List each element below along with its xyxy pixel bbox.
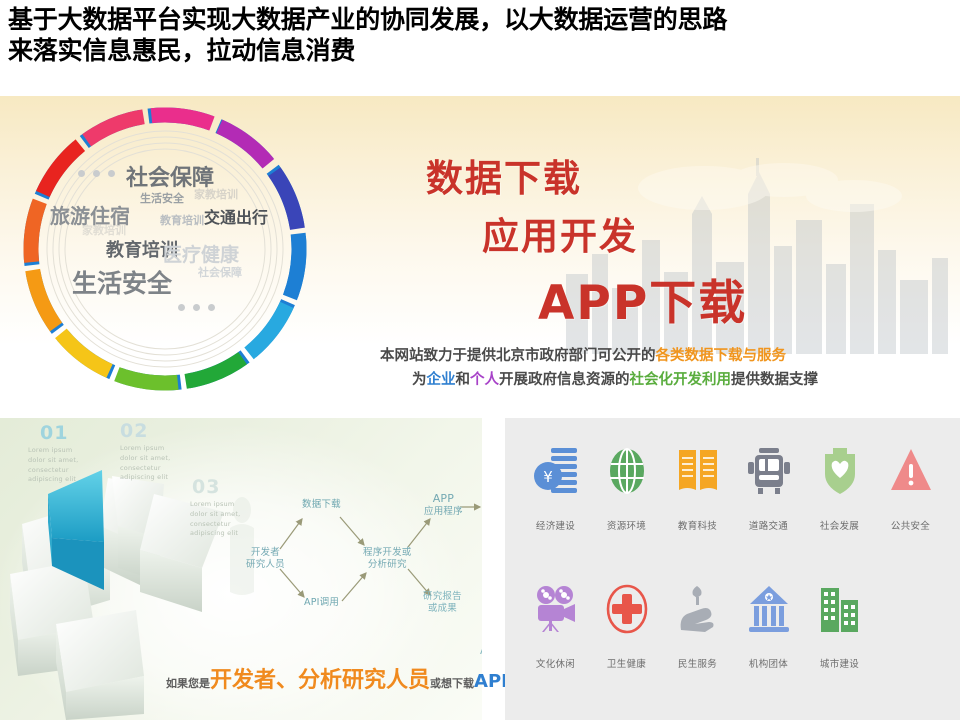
flow-node-data-download: 数据下载 bbox=[302, 499, 341, 511]
slide-page: 基于大数据平台实现大数据产业的协同发展，以大数据运营的思路 来落实信息惠民，拉动… bbox=[0, 0, 960, 720]
open-book-icon bbox=[675, 440, 721, 502]
annotation-text: Lorem ipsum dolor sit amet, consectetur … bbox=[190, 500, 244, 539]
film-camera-icon bbox=[533, 578, 579, 640]
category-item-health[interactable]: 卫生健康 bbox=[592, 570, 661, 706]
wordcloud-term: 医疗健康 bbox=[163, 240, 239, 267]
bottom-section: 01 Lorem ipsum dolor sit amet, consectet… bbox=[0, 418, 960, 720]
flow-node-app-program: APP应用程序 bbox=[424, 493, 463, 518]
banner-subline-2: 为企业和个人开展政府信息资源的社会化开发利用提供数据支撑 bbox=[412, 368, 818, 389]
flow-node-api-call: API调用 bbox=[304, 597, 339, 609]
category-label: 民生服务 bbox=[678, 656, 717, 670]
category-label: 公共安全 bbox=[891, 518, 930, 532]
category-item-culture[interactable]: 文化休闲 bbox=[521, 570, 590, 706]
category-item-transport[interactable]: 道路交通 bbox=[734, 432, 803, 568]
hand-care-icon bbox=[675, 578, 721, 640]
category-label: 机构团体 bbox=[749, 656, 788, 670]
category-label: 文化休闲 bbox=[536, 656, 575, 670]
city-buildings-icon bbox=[817, 578, 863, 640]
banner-headline-2: 应用开发 bbox=[482, 206, 638, 260]
banner-headline-3: APP下载 bbox=[538, 264, 747, 333]
shield-heart-icon bbox=[817, 440, 863, 502]
annotation-text: Lorem ipsum dolor sit amet, consectetur … bbox=[120, 444, 174, 483]
category-item-education[interactable]: 教育科技 bbox=[663, 432, 732, 568]
flow-node-research-report: 研究报告或成果 bbox=[423, 591, 462, 615]
tagline-prefix: 如果您是 bbox=[166, 677, 210, 690]
banner-right-graphic: 数据下载 应用开发 APP下载 本网站致力于提供北京市政府部门可公开的各类数据下… bbox=[380, 96, 960, 400]
svg-text:¥: ¥ bbox=[543, 468, 553, 486]
category-item-institutions[interactable]: 机构团体 bbox=[734, 570, 803, 706]
coins-yen-icon: ¥ bbox=[533, 440, 579, 502]
subline-segment: 和 bbox=[456, 372, 471, 388]
banner-headline-1: 数据下载 bbox=[426, 148, 582, 202]
tagline-middle: 或想下载 bbox=[430, 677, 474, 690]
wordcloud-term: 生活安全 bbox=[140, 190, 184, 206]
top-banner: 社会保障 旅游住宿 生活安全 家教培训 教育培训 交通出行 家教培训 教育培训 … bbox=[0, 96, 960, 400]
category-item-publicsafety[interactable]: 公共安全 bbox=[876, 432, 945, 568]
wordcloud-term: 生活安全 bbox=[72, 264, 172, 300]
category-label: 资源环境 bbox=[607, 518, 646, 532]
annotation-text: Lorem ipsum dolor sit amet, consectetur … bbox=[28, 446, 82, 485]
globe-icon bbox=[604, 440, 650, 502]
developer-tagline: 如果您是开发者、分析研究人员或想下载APP... bbox=[166, 662, 532, 694]
category-grid-empty-slot bbox=[876, 570, 945, 706]
subline-segment: 本网站致力于提供北京市政府部门可公开的 bbox=[380, 348, 656, 364]
annotation-number: 01 bbox=[40, 422, 68, 444]
subline-segment-enterprise: 企业 bbox=[427, 372, 456, 388]
wordcloud-term: 教育培训 bbox=[160, 212, 204, 228]
developer-flow-diagram: 开发者研究人员 数据下载 API调用 程序开发或分析研究 APP应用程序 研究报… bbox=[240, 473, 482, 663]
subline-segment: 为 bbox=[412, 372, 427, 388]
flow-node-program-dev: 程序开发或分析研究 bbox=[363, 547, 412, 571]
subline-segment-highlight: 各类数据下载与服务 bbox=[656, 348, 787, 364]
category-label: 道路交通 bbox=[749, 518, 788, 532]
category-label: 城市建设 bbox=[820, 656, 859, 670]
category-label: 卫生健康 bbox=[607, 656, 646, 670]
category-item-environment[interactable]: 资源环境 bbox=[592, 432, 661, 568]
flow-node-developer: 开发者研究人员 bbox=[246, 547, 285, 571]
category-item-social[interactable]: 社会发展 bbox=[805, 432, 874, 568]
wordcloud-term: 交通出行 bbox=[204, 204, 268, 228]
subline-segment-individual: 个人 bbox=[470, 372, 499, 388]
wordcloud-term: 家教培训 bbox=[194, 186, 238, 202]
category-label: 社会发展 bbox=[820, 518, 859, 532]
category-label: 教育科技 bbox=[678, 518, 717, 532]
category-ring: 社会保障 旅游住宿 生活安全 家教培训 教育培训 交通出行 家教培训 教育培训 … bbox=[20, 104, 310, 394]
category-icons-panel: ¥ 经济建设 bbox=[505, 418, 960, 720]
subline-segment: 提供数据支撑 bbox=[731, 372, 818, 388]
page-title: 基于大数据平台实现大数据产业的协同发展，以大数据运营的思路 来落实信息惠民，拉动… bbox=[8, 4, 952, 66]
category-label: 经济建设 bbox=[536, 518, 575, 532]
category-item-urban[interactable]: 城市建设 bbox=[805, 570, 874, 706]
dots-decoration-bottom bbox=[178, 304, 215, 311]
wordcloud-term: 社会保障 bbox=[198, 264, 242, 280]
banner-left-graphic: 社会保障 旅游住宿 生活安全 家教培训 教育培训 交通出行 家教培训 教育培训 … bbox=[0, 96, 400, 400]
page-title-line-2: 来落实信息惠民，拉动信息消费 bbox=[8, 35, 952, 66]
subline-segment-social: 社会化开发利用 bbox=[630, 372, 732, 388]
category-grid: ¥ 经济建设 bbox=[521, 432, 945, 706]
subline-segment: 开展政府信息资源的 bbox=[499, 372, 630, 388]
banner-subline-1: 本网站致力于提供北京市政府部门可公开的各类数据下载与服务 bbox=[380, 344, 786, 365]
bus-icon bbox=[746, 440, 792, 502]
annotation-number: 02 bbox=[120, 420, 148, 442]
dots-decoration-top bbox=[78, 170, 115, 177]
ring-wordcloud: 社会保障 旅游住宿 生活安全 家教培训 教育培训 交通出行 家教培训 教育培训 … bbox=[48, 152, 284, 342]
tagline-highlight: 开发者、分析研究人员 bbox=[210, 668, 430, 693]
category-item-economic[interactable]: ¥ 经济建设 bbox=[521, 432, 590, 568]
page-title-line-1: 基于大数据平台实现大数据产业的协同发展，以大数据运营的思路 bbox=[8, 4, 952, 35]
medical-cross-icon bbox=[604, 578, 650, 640]
category-item-livelihood[interactable]: 民生服务 bbox=[663, 570, 732, 706]
flow-node-app-user: APP使用者 bbox=[480, 645, 482, 657]
warning-triangle-icon bbox=[888, 440, 934, 502]
bank-building-icon bbox=[746, 578, 792, 640]
annotation-number: 03 bbox=[192, 476, 220, 498]
